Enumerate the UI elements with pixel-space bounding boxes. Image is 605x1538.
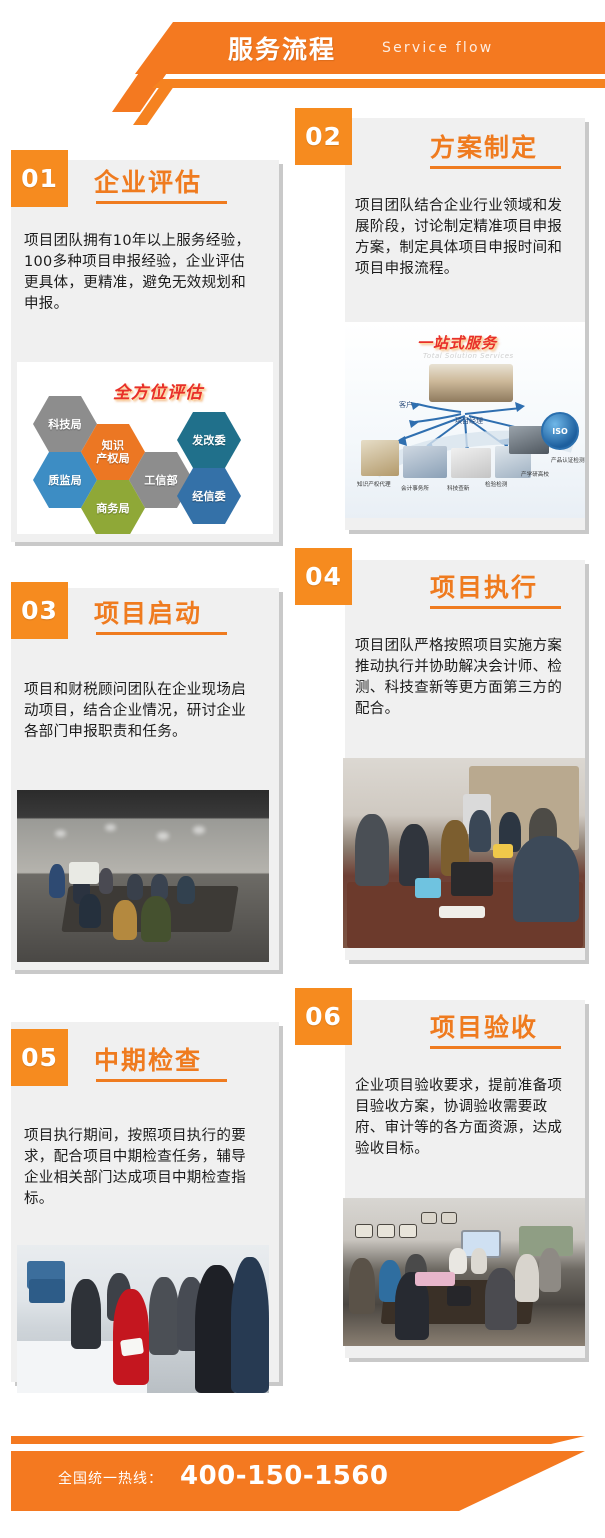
- card-02-number-badge: 02: [295, 108, 352, 165]
- photo-person: [79, 894, 101, 928]
- card-03-title: 项目启动: [94, 594, 202, 630]
- hex-diagram-title: 全方位评估: [113, 378, 203, 403]
- photo-person: [485, 1268, 517, 1330]
- photo-person: [471, 1248, 487, 1274]
- card-05-description: 项目执行期间，按照项目执行的要求，配合项目中期检查任务，辅导企业相关部门达成项目…: [24, 1126, 254, 1210]
- photo-person: [49, 864, 65, 898]
- photo-whiteboard: [69, 862, 99, 884]
- photo-person: [127, 874, 143, 900]
- page-subtitle: Service flow: [382, 40, 493, 56]
- page-header: 服务流程 Service flow: [0, 0, 605, 112]
- photo-person: [449, 1248, 467, 1274]
- photo-person: [515, 1254, 539, 1302]
- card-02-title-rule: [430, 166, 561, 169]
- photo-laptop: [447, 1286, 471, 1306]
- card-01-title: 企业评估: [94, 163, 202, 199]
- service-branch-label-1: 知识产权代理: [357, 480, 391, 488]
- card-05-photo: [17, 1245, 269, 1393]
- photo-person: [513, 836, 579, 922]
- card-03-number-badge: 03: [11, 582, 68, 639]
- header-ribbon-band: [135, 22, 605, 74]
- photo-person: [113, 900, 137, 940]
- service-branch-label-6: 产品认证检测: [551, 456, 585, 464]
- photo-ceiling-light: [105, 824, 116, 831]
- card-03-description: 项目和财税顾问团队在企业现场启动项目，结合企业情况，研讨企业各部门申报职责和任务…: [24, 680, 254, 743]
- service-branch-label-2: 会计事务所: [401, 484, 429, 492]
- card-05-title: 中期检查: [94, 1041, 202, 1077]
- photo-paper: [439, 906, 485, 918]
- service-branch-label-4: 检验检测: [485, 480, 507, 488]
- photo-certificate: [441, 1212, 457, 1224]
- service-node-1: [361, 440, 399, 476]
- card-04-title: 项目执行: [430, 568, 538, 604]
- photo-person: [71, 1279, 101, 1349]
- service-node-2: [403, 446, 447, 478]
- service-seal-badge: ISO: [541, 412, 579, 450]
- card-01-hex-diagram: 全方位评估 科技局 知识 产权局 发改委 质监局 工信部 商务局 经信委: [17, 362, 273, 534]
- card-03-photo: [17, 790, 269, 962]
- hex-node-label: 科技局: [48, 418, 82, 431]
- photo-certificate: [399, 1224, 417, 1238]
- card-04-description: 项目团队严格按照项目实施方案推动执行并协助解决会计师、检测、科技查新等更方面第三…: [355, 636, 575, 720]
- photo-person: [355, 814, 389, 886]
- card-06-title-rule: [430, 1046, 561, 1049]
- card-01-number-badge: 01: [11, 150, 68, 207]
- photo-ceiling-light: [193, 826, 205, 834]
- photo-folder: [493, 844, 513, 858]
- card-02-description: 项目团队结合企业行业领域和发展阶段，讨论制定精准项目申报方案，制定具体项目申报时…: [355, 196, 575, 280]
- footer-hotline-number: 400-150-1560: [180, 1461, 389, 1491]
- photo-person: [399, 824, 429, 886]
- hex-node-label: 商务局: [96, 502, 130, 515]
- hex-node-label: 工信部: [144, 474, 178, 487]
- photo-person: [349, 1258, 375, 1314]
- photo-person: [231, 1257, 269, 1393]
- card-02-service-diagram: 一站式服务 Total Solution Services: [345, 322, 585, 518]
- photo-person-red-coat: [113, 1289, 149, 1385]
- service-label-project-manager: 项目经理: [455, 416, 483, 426]
- card-06-photo: [343, 1198, 585, 1346]
- card-04-number-badge: 04: [295, 548, 352, 605]
- card-06-number-badge: 06: [295, 988, 352, 1045]
- photo-person: [99, 868, 113, 894]
- photo-paper: [120, 1338, 144, 1357]
- photo-ceiling-light: [55, 830, 66, 837]
- photo-laptop: [451, 862, 493, 896]
- photo-person: [141, 896, 171, 942]
- hex-node-label: 经信委: [192, 490, 226, 503]
- hex-node-label: 质监局: [48, 474, 82, 487]
- hex-node-label: 发改委: [192, 434, 226, 447]
- photo-person: [149, 1277, 179, 1355]
- service-node-3: [451, 448, 491, 478]
- card-03-title-rule: [96, 632, 227, 635]
- photo-bag: [415, 878, 441, 898]
- card-04-title-rule: [430, 606, 561, 609]
- hex-node-label: 知识 产权局: [96, 439, 130, 465]
- service-label-customer: 客户: [399, 400, 413, 410]
- card-04-photo: [343, 758, 585, 948]
- card-01-description: 项目团队拥有10年以上服务经验，100多种项目申报经验，企业评估更具体，更精准，…: [24, 231, 254, 315]
- photo-person: [539, 1248, 561, 1292]
- card-05-title-rule: [96, 1079, 227, 1082]
- photo-certificate: [355, 1224, 373, 1238]
- page-title: 服务流程: [228, 30, 336, 66]
- page-footer: 全国统一热线： 400-150-1560: [0, 1418, 605, 1538]
- photo-certificate: [421, 1212, 437, 1224]
- photo-monitor: [29, 1279, 65, 1303]
- header-ribbon-band-secondary: [152, 79, 605, 88]
- photo-person: [469, 810, 491, 852]
- photo-certificate: [377, 1224, 395, 1238]
- photo-flowers: [415, 1272, 455, 1286]
- service-flow-infographic: 服务流程 Service flow 01 企业评估 项目团队拥有10年以上服务经…: [0, 0, 605, 1538]
- footer-hotline-label: 全国统一热线：: [58, 1468, 163, 1488]
- footer-accent-rule: [11, 1436, 585, 1444]
- photo-ceiling-light: [157, 832, 169, 840]
- hex-node-fagaiwei: 发改委: [177, 412, 241, 468]
- photo-person: [177, 876, 195, 904]
- card-05-number-badge: 05: [11, 1029, 68, 1086]
- card-06-description: 企业项目验收要求，提前准备项目验收方案，协调验收需要政府、审计等的各方面资源，达…: [355, 1076, 575, 1160]
- card-06-title: 项目验收: [430, 1008, 538, 1044]
- card-02-title: 方案制定: [430, 128, 538, 164]
- card-01-title-rule: [96, 201, 227, 204]
- service-branch-label-5: 产学研高校: [521, 470, 549, 478]
- service-branch-label-3: 科技查新: [447, 484, 469, 492]
